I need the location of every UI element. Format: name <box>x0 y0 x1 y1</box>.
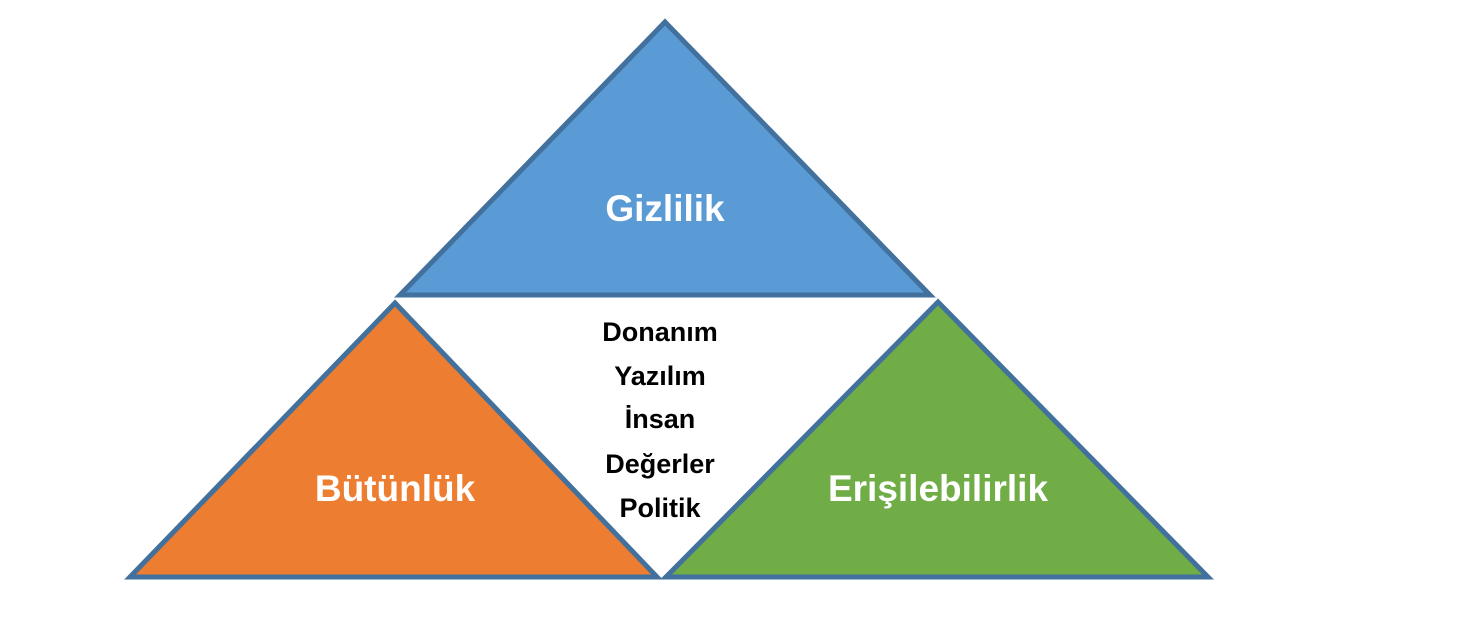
triangle-group-butunluk[interactable]: Bütünlük <box>130 303 657 577</box>
triangle-group-erisilebilirlik[interactable]: Erişilebilirlik <box>666 302 1208 577</box>
triangle-label-gizlilik: Gizlilik <box>605 188 725 229</box>
triangle-erisilebilirlik[interactable] <box>666 302 1208 577</box>
center-list-item-degerler: Değerler <box>605 449 715 479</box>
triangle-group-gizlilik[interactable]: Gizlilik <box>400 22 930 295</box>
center-list-item-donanim: Donanım <box>602 317 718 347</box>
triangle-gizlilik[interactable] <box>400 22 930 295</box>
triangle-butunluk[interactable] <box>130 303 657 577</box>
center-list-item-yazilim: Yazılım <box>614 361 706 391</box>
center-element-list: Donanım Yazılım İnsan Değerler Politik <box>602 317 718 523</box>
diagram-canvas: Gizlilik Bütünlük Erişilebilirlik Donanı… <box>0 0 1468 617</box>
center-list-item-insan: İnsan <box>625 404 696 434</box>
cia-triad-diagram: Gizlilik Bütünlük Erişilebilirlik Donanı… <box>0 0 1468 617</box>
center-list-item-politik: Politik <box>619 493 701 523</box>
triangle-label-butunluk: Bütünlük <box>315 468 476 509</box>
triangle-label-erisilebilirlik: Erişilebilirlik <box>828 468 1048 509</box>
